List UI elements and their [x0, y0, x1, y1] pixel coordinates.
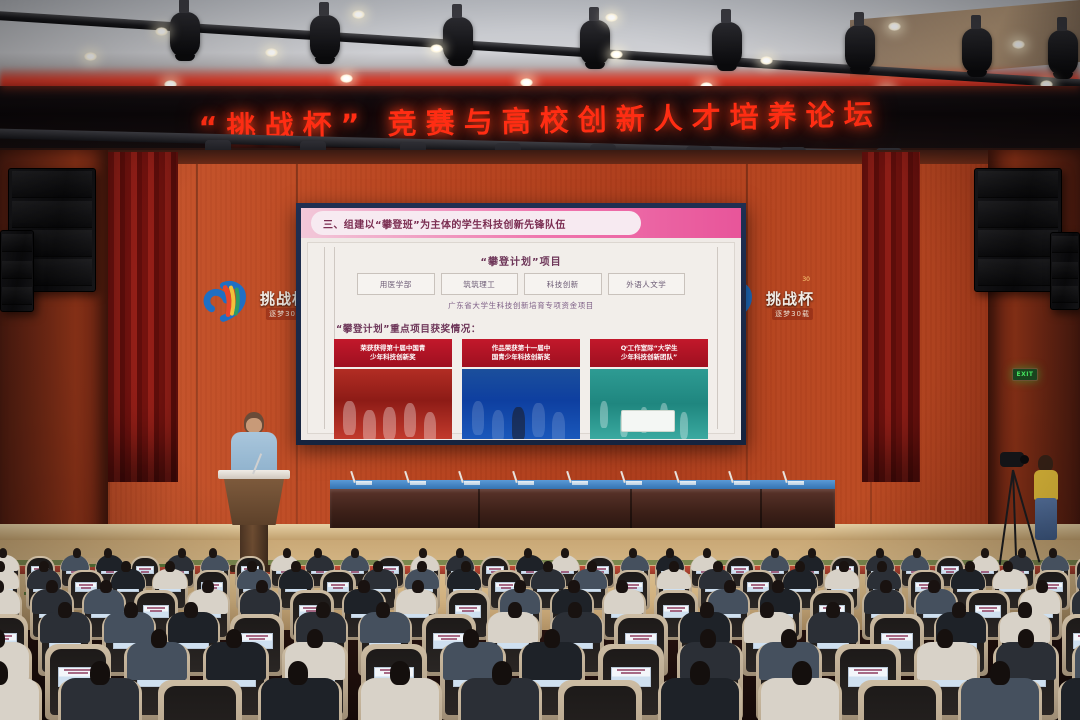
challenge-cup-swoosh-icon [202, 274, 260, 332]
audience-head [124, 602, 137, 618]
audience-head [876, 548, 884, 558]
caption-line1: Qⁱ工作室际“大学生 [621, 344, 678, 353]
caption-line1: 作品荣获第十一届中 [492, 344, 551, 353]
ceiling-downlight [760, 56, 773, 65]
audience-head [792, 661, 812, 685]
audience-head [417, 561, 427, 572]
head-table [330, 480, 835, 528]
audience-head [165, 561, 175, 572]
audience-head [283, 548, 291, 558]
ceiling-downlight [888, 22, 901, 31]
caption-line2: 少年科技创新奖 [370, 353, 416, 362]
photo-figure [383, 407, 396, 439]
audience-head [390, 661, 410, 685]
audience-head [808, 548, 816, 558]
table-nameplate [410, 481, 426, 485]
slide-award-caption-0: 荣获获得第十届中国青少年科技创新奖 [334, 339, 452, 367]
challenge-cup-logo-left: 30 挑战杯 逐梦30载 [200, 268, 308, 342]
audience-head [990, 661, 1010, 685]
slide-awards-heading: “攀登计划”重点项目获奖情况： [336, 321, 481, 335]
slide-body: “攀登计划”项目 用医学部筑筑理工科技创新外语人文学 广东省大学生科技创新培育专… [307, 242, 735, 434]
audience-head [100, 580, 111, 593]
audience-head [877, 561, 887, 572]
audience-shoulders [1072, 589, 1080, 614]
ceiling-downlight [155, 27, 168, 36]
logo-title-right: 挑战杯 [766, 288, 814, 309]
audience-head [256, 580, 267, 593]
slide-award-card-0: 荣获获得第十届中国青少年科技创新奖 [334, 339, 452, 439]
stage-light [310, 15, 340, 61]
stage-light [962, 28, 992, 74]
slide-award-photo-2 [590, 369, 708, 439]
camera-tripod [992, 470, 1036, 568]
audience-head [492, 661, 512, 685]
audience-seating [0, 556, 1080, 720]
audience-seat [558, 680, 642, 720]
audience-head [226, 629, 242, 648]
ceiling-downlight [605, 13, 618, 22]
audience-head [316, 602, 329, 618]
auditorium-scene: “挑战杯” 竞赛与高校创新人才培养论坛 EXIT [0, 0, 1080, 720]
audience-head [760, 602, 773, 618]
audience-head [616, 580, 627, 593]
line-array-speaker-right-upper [974, 168, 1062, 292]
line-array-speaker-right-lower [1050, 232, 1080, 310]
audience-head [463, 629, 479, 648]
ceiling-downlight [430, 44, 443, 53]
audience-head [629, 548, 637, 558]
audience-head [713, 561, 723, 572]
table-nameplate [788, 481, 804, 485]
audience-head [104, 548, 112, 558]
audience-seat [158, 680, 242, 720]
line-array-speaker-left-lower [0, 230, 34, 312]
audience-head [568, 580, 579, 593]
audience-head [1003, 561, 1013, 572]
audience-head [456, 548, 464, 558]
logo-year-right: 30 [802, 276, 810, 283]
audience-head [839, 561, 849, 572]
slide-program-box-2: 科技创新 [524, 273, 602, 295]
slide-award-caption-2: Qⁱ工作室际“大学生少年科技创新团队” [590, 339, 708, 367]
slide-program-box-0: 用医学部 [357, 273, 435, 295]
audience-head [703, 548, 711, 558]
audience-head [587, 561, 597, 572]
audience-head [58, 602, 71, 618]
podium-body [224, 479, 284, 525]
slide-program-title: “攀登计划”项目 [308, 253, 734, 268]
stage-light [712, 22, 742, 68]
photo-figure [552, 412, 565, 439]
photo-figure [404, 403, 417, 437]
audience-head [700, 602, 713, 618]
slide-title-pill: 三、组建以“攀登班”为主体的学生科技创新先锋队伍 [311, 211, 641, 235]
audience-head [247, 561, 257, 572]
caption-line2: 少年科技创新团队” [621, 353, 677, 362]
audience-head [151, 629, 167, 648]
table-nameplate [572, 481, 588, 485]
audience-head [724, 580, 735, 593]
audience-shoulders [1061, 678, 1080, 720]
audience-head [461, 561, 471, 572]
slide-program-box-3: 外语人文学 [608, 273, 686, 295]
presenter-face [246, 418, 262, 433]
audience-head [795, 561, 805, 572]
photo-figure [424, 412, 437, 439]
audience-head [880, 580, 891, 593]
slide-program-note: 广东省大学生科技创新培育专项资金项目 [308, 300, 734, 311]
ceiling-downlight [340, 74, 353, 83]
audience-head [781, 629, 797, 648]
exit-sign: EXIT [1012, 368, 1038, 381]
audience-seat [858, 680, 942, 720]
audience-head [965, 561, 975, 572]
photo-figure [532, 403, 545, 437]
photo-figure [512, 407, 525, 439]
audience-head [39, 561, 49, 572]
audience-head [376, 602, 389, 618]
caption-line2: 国青少年科技创新奖 [492, 353, 551, 362]
table-nameplate [518, 481, 534, 485]
ceiling-downlight [265, 48, 278, 57]
logo-subtitle-right: 逐梦30载 [772, 308, 813, 320]
slide-title: 三、组建以“攀登班”为主体的学生科技创新先锋队伍 [323, 216, 566, 231]
seat-placard [327, 582, 349, 592]
audience-head [508, 602, 521, 618]
audience-head [524, 548, 532, 558]
audience-head [121, 561, 131, 572]
audience-head [981, 548, 989, 558]
audience-head [288, 661, 308, 685]
photo-figure [680, 412, 688, 439]
slide-award-cards: 荣获获得第十届中国青少年科技创新奖作品荣获第十一届中国青少年科技创新奖Qⁱ工作室… [334, 339, 708, 439]
stage-curtain-left [108, 152, 178, 482]
table-nameplate [464, 481, 480, 485]
audience-head [543, 561, 553, 572]
photo-figure [363, 410, 376, 439]
photo-figure [600, 401, 608, 428]
audience-head [937, 629, 953, 648]
audience-head [412, 580, 423, 593]
audience-head [928, 580, 939, 593]
table-nameplate [626, 481, 642, 485]
audience-head [0, 548, 7, 558]
slide-award-caption-1: 作品荣获第十一届中国青少年科技创新奖 [462, 339, 580, 367]
audience-head [291, 561, 301, 572]
stage-light [580, 20, 610, 66]
slide-program-box-1: 筑筑理工 [441, 273, 519, 295]
photo-figure [492, 410, 505, 439]
audience-head [184, 602, 197, 618]
audience-head [1049, 548, 1057, 558]
table-nameplate [680, 481, 696, 485]
audience-head [826, 602, 839, 618]
audience-head [561, 548, 569, 558]
audience-head [666, 548, 674, 558]
audience-head [202, 580, 213, 593]
operator-top [1034, 470, 1058, 500]
audience-head [419, 548, 427, 558]
audience-head [209, 548, 217, 558]
slide-award-card-1: 作品荣获第十一届中国青少年科技创新奖 [462, 339, 580, 439]
stage-light [170, 12, 200, 58]
ceiling-downlight [1012, 40, 1025, 49]
audience-head [544, 629, 560, 648]
audience-head [568, 602, 581, 618]
ceiling-downlight [610, 50, 623, 59]
operator-legs [1035, 498, 1057, 540]
audience-head [669, 561, 679, 572]
stage-light [443, 17, 473, 63]
audience-head [314, 548, 322, 558]
audience-head [690, 661, 710, 685]
photo-figure [343, 401, 356, 435]
audience-shoulders [0, 678, 39, 720]
audience-head [1018, 548, 1026, 558]
audience-head [952, 602, 965, 618]
stage-light [845, 25, 875, 71]
slide-program-box-row: 用医学部筑筑理工科技创新外语人文学 [354, 273, 688, 295]
audience-head [1036, 580, 1047, 593]
audience-head [178, 548, 186, 558]
audience-head [1018, 629, 1034, 648]
projection-screen-frame: 三、组建以“攀登班”为主体的学生科技创新先锋队伍 “攀登计划”项目 用医学部筑筑… [296, 203, 746, 445]
audience-head [358, 580, 369, 593]
audience-head [700, 629, 716, 648]
audience-head [514, 580, 525, 593]
table-nameplate [734, 481, 750, 485]
audience-head [307, 629, 323, 648]
audience-head [772, 580, 783, 593]
audience-head [771, 548, 779, 558]
audience-head [46, 580, 57, 593]
audience-head [1018, 602, 1031, 618]
audience-head [373, 561, 383, 572]
photo-figure [472, 401, 485, 435]
stage-light [1048, 30, 1078, 76]
ceiling-downlight [84, 52, 97, 61]
slide-award-photo-1 [462, 369, 580, 439]
slide-award-card-2: Qⁱ工作室际“大学生少年科技创新团队” [590, 339, 708, 439]
video-camera-lens-icon [1020, 455, 1029, 464]
caption-line1: 荣获获得第十届中国青 [360, 344, 425, 353]
stage-curtain-right [862, 152, 920, 482]
audience-head [90, 661, 110, 685]
table-nameplate [356, 481, 372, 485]
ceiling-downlight [352, 10, 365, 19]
projection-screen: 三、组建以“攀登班”为主体的学生科技创新先锋队伍 “攀登计划”项目 用医学部筑筑… [301, 208, 741, 440]
slide-award-photo-0 [334, 369, 452, 439]
group-photo-banner [621, 410, 675, 432]
audience-head [351, 548, 359, 558]
exit-sign-label: EXIT [1016, 371, 1033, 378]
audience-head [73, 548, 81, 558]
audience-head [913, 548, 921, 558]
